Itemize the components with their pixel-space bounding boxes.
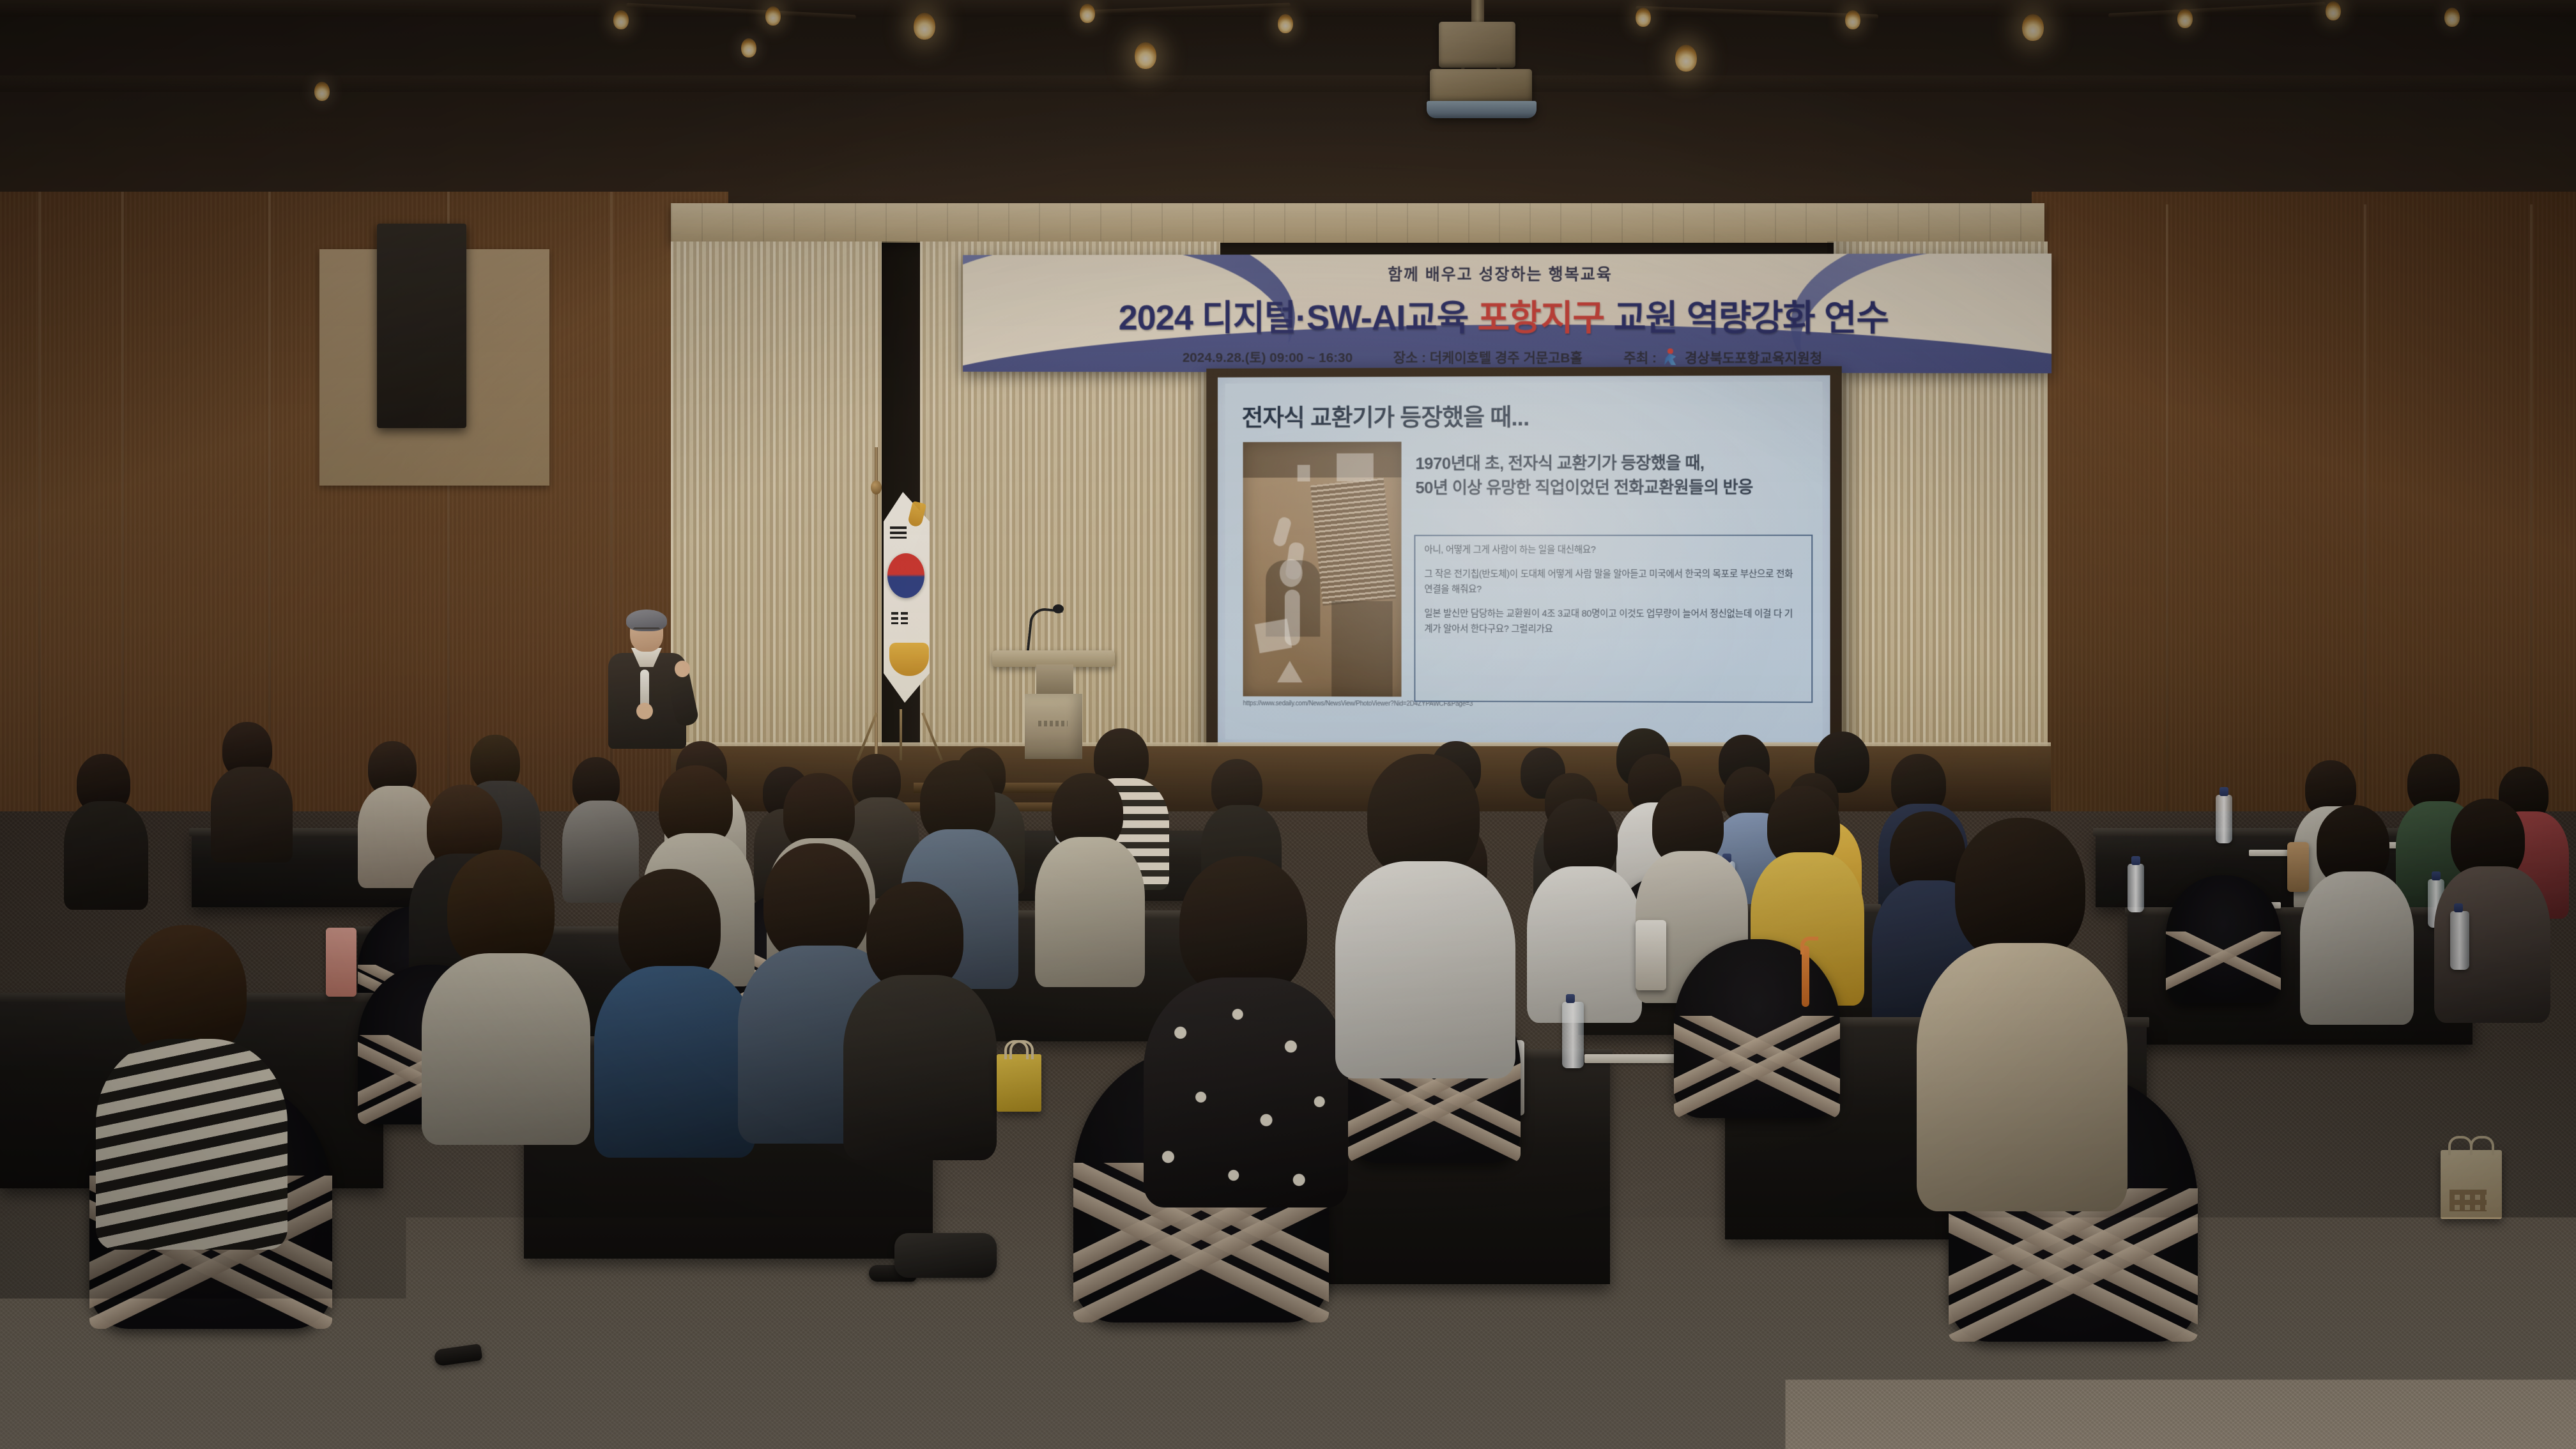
ceiling-spotlight [613,10,629,29]
banner-host-label: 주최 : [1623,351,1657,365]
tumbler-cup [326,928,356,997]
lectern-nameplate [1038,721,1068,726]
slide-quote-box: 아니, 어떻게 그게 사람이 하는 일을 대신해요? 그 작은 전기칩(반도체)… [1414,535,1813,703]
water-bottle [2127,864,2144,912]
ceiling-spotlight [1845,10,1860,29]
umbrella[interactable] [1802,946,1809,1007]
ceiling-spotlight [1675,45,1697,72]
bag-on-floor [894,1233,997,1278]
flag-trigram-icon [891,612,908,624]
slide-quote-line: 일본 발신만 담당하는 교환원이 4조 3교대 80명이고 이것도 업무량이 늘… [1424,607,1801,638]
ceiling-spotlight [314,82,330,101]
banner-supertitle: 함께 배우고 성장하는 행복교육 [1388,262,1613,285]
slide-photograph [1243,441,1402,696]
banner-datetime: 2024.9.28.(토) 09:00 ~ 16:30 [1183,348,1353,367]
slide-lead-line2: 50년 이상 유망한 직업이었던 전화교환원들의 반응 [1415,475,1813,500]
ceiling-spotlight [2444,8,2460,27]
slide-title: 전자식 교환기가 등장했을 때... [1242,398,1529,433]
chair-sash [2166,931,2281,1003]
projector-lens-icon [1427,101,1537,118]
curtain-valance [671,203,2044,243]
chair-sash [1674,1016,1840,1118]
slide-quote-line: 아니, 어떻게 그게 사람이 하는 일을 대신해요? [1424,543,1801,558]
banquet-table-top [2093,828,2443,836]
banner-title-part1: 2024 디지털·SW-AI교육 [1119,298,1478,337]
flag-stand [850,708,952,760]
tumbler-cup [2287,842,2309,892]
banner-title: 2024 디지털·SW-AI교육 포항지구 교원 역량강화 연수 [1119,289,1889,341]
ceiling-spotlight [741,38,756,57]
conference-hall-photo: 함께 배우고 성장하는 행복교육 2024 디지털·SW-AI교육 포항지구 교… [0,0,2576,1449]
flag-taegeuk-icon [887,553,924,598]
ceiling-spotlight [1135,42,1156,69]
paper-gift-bag[interactable] [997,1054,1041,1112]
chair-sash [1949,1188,2198,1342]
slide-lead-line1: 1970년대 초, 전자식 교환기가 등장했을 때, [1415,451,1813,476]
slide-lead-text: 1970년대 초, 전자식 교환기가 등장했을 때, 50년 이상 유망한 직업… [1415,451,1813,500]
event-banner: 함께 배우고 성장하는 행복교육 2024 디지털·SW-AI교육 포항지구 교… [963,254,2051,374]
ceiling-spotlight [1278,14,1293,33]
glasses-icon [633,627,660,635]
water-bottle [2450,911,2469,970]
ceiling-spotlight [1636,8,1651,27]
water-bottle [1562,1002,1584,1068]
flag-trigram-icon [890,526,907,539]
presenter-hand [675,661,690,677]
ceiling-spotlight [2022,14,2044,41]
ceiling-spotlight [2326,1,2341,20]
ceiling-spotlight [1080,4,1095,23]
wall-speaker [377,224,466,428]
slide-quote-line: 그 작은 전기칩(반도체)이 도대체 어떻게 사람 말을 알아듣고 미국에서 한… [1424,567,1801,597]
presentation-slide: 전자식 교환기가 등장했을 때... https://www.sedaily.c… [1225,381,1823,741]
tumbler-cup [1636,920,1666,990]
projector-bracket [1439,22,1515,68]
banner-title-part2: 교원 역량강화 연수 [1604,298,1889,338]
banner-title-highlight: 포항지구 [1478,298,1605,337]
projection-screen: 전자식 교환기가 등장했을 때... https://www.sedaily.c… [1218,375,1830,751]
projection-screen-frame: 전자식 교환기가 등장했을 때... https://www.sedaily.c… [1206,366,1842,762]
lectern [1025,694,1082,759]
paper-gift-bag[interactable] [2441,1150,2502,1219]
ceiling-spotlight [914,13,935,40]
lectern-neck [1036,664,1073,696]
water-bottle [2216,795,2232,843]
banner-host-name: 경상북도포항교육지원청 [1685,351,1822,365]
ceiling-spotlight [765,6,781,26]
lectern-microphone-stem [1026,607,1062,657]
slide-quote-text: 아니, 어떻게 그게 사람이 하는 일을 대신해요? 그 작은 전기칩(반도체)… [1424,543,1801,647]
ceiling-spotlight [2177,9,2193,28]
flag-finial-icon [871,480,882,494]
microphone-icon [1053,604,1064,613]
banner-meta: 2024.9.28.(토) 09:00 ~ 16:30 장소 : 더케이호텔 경… [1183,348,1822,367]
presenter-hand [636,703,653,719]
education-office-logo-icon [1663,348,1677,365]
banner-host-group: 주최 : 경상북도포항교육지원청 [1623,348,1822,367]
banner-place: 장소 : 더케이호텔 경주 거문고B홀 [1393,348,1583,367]
